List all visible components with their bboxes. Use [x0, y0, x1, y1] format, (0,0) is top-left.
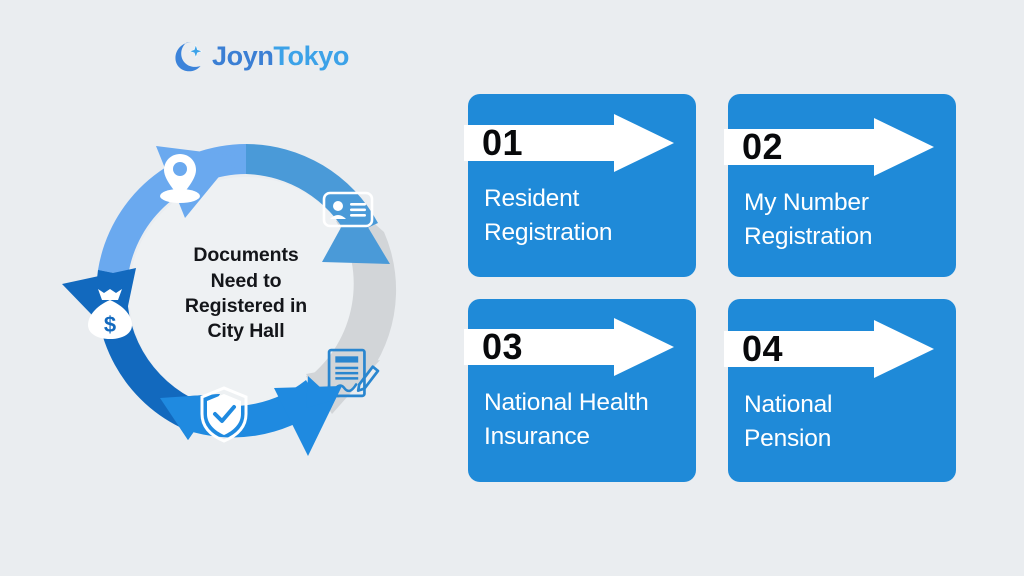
step-title-line-2: Registration [744, 220, 950, 254]
step-number: 01 [482, 125, 523, 161]
step-title-line-1: My Number [744, 186, 950, 220]
brand-name-part-two: Tokyo [273, 41, 349, 71]
step-title-line-1: National [744, 388, 950, 422]
svg-text:$: $ [104, 312, 116, 337]
step-number-overlay: 02 [724, 118, 934, 176]
step-title-line-2: Registration [484, 216, 690, 250]
step-card-02[interactable]: 02 My Number Registration [728, 94, 956, 277]
step-card-01[interactable]: 01 Resident Registration [468, 94, 696, 277]
step-number: 03 [482, 329, 523, 365]
step-title: Resident Registration [484, 182, 690, 250]
step-title-line-1: Resident [484, 182, 690, 216]
crescent-moon-sparkle-icon [170, 39, 204, 73]
step-card-04[interactable]: 04 National Pension [728, 299, 956, 482]
step-title-line-2: Pension [744, 422, 950, 456]
brand-name-part-one: Joyn [212, 41, 273, 71]
brand-logo: JoynTokyo [170, 36, 349, 76]
step-title-line-2: Insurance [484, 420, 698, 454]
brand-wordmark: JoynTokyo [212, 43, 349, 70]
step-title-line-1: National Health [484, 386, 698, 420]
step-number: 02 [742, 129, 783, 165]
step-title: My Number Registration [744, 186, 950, 254]
step-number: 04 [742, 331, 783, 367]
step-number-overlay: 04 [724, 320, 934, 378]
infographic-canvas: JoynTokyo [0, 0, 1024, 576]
step-number-overlay: 01 [464, 114, 674, 172]
step-title: National Pension [744, 388, 950, 456]
step-title: National Health Insurance [484, 386, 698, 454]
step-number-overlay: 03 [464, 318, 674, 376]
cycle-diagram: $ [60, 108, 432, 480]
step-card-03[interactable]: 03 National Health Insurance [468, 299, 696, 482]
